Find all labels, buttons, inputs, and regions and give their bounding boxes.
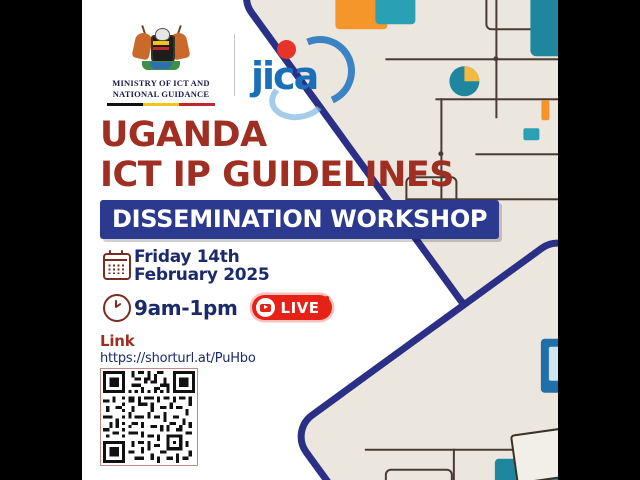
ministry-logo-text: MINISTRY OF ICT AND NATIONAL GUIDANCE	[112, 78, 209, 100]
date-row: Friday 14th February 2025	[100, 248, 430, 285]
jica-logo-icon: jica	[247, 32, 355, 98]
ministry-logo-line1: MINISTRY OF ICT AND	[112, 78, 209, 89]
link-label: Link	[100, 332, 256, 350]
page-title: UGANDA ICT IP GUIDELINES DISSEMINATION W…	[100, 118, 500, 239]
youtube-play-icon	[256, 298, 275, 317]
jica-wordmark: jica	[251, 54, 317, 98]
event-details: Friday 14th February 2025 9am-1pm LIVE	[100, 248, 430, 322]
subtitle-banner-label: DISSEMINATION WORKSHOP	[112, 205, 487, 233]
event-date-line2: February 2025	[134, 266, 269, 284]
ministry-logo-line2: NATIONAL GUIDANCE	[112, 89, 209, 100]
clock-icon	[100, 294, 134, 322]
time-row: 9am-1pm LIVE	[100, 294, 430, 322]
illustration-canvas	[345, 329, 558, 480]
ministry-logo: MINISTRY OF ICT AND NATIONAL GUIDANCE	[100, 25, 222, 106]
headline-line-2: ICT IP GUIDELINES	[100, 158, 500, 194]
link-block: Link https://shorturl.at/PuHbo	[100, 332, 256, 366]
event-date-line1: Friday 14th	[134, 248, 269, 266]
screenshot-letterbox: MINISTRY OF ICT AND NATIONAL GUIDANCE ji…	[0, 0, 640, 480]
subtitle-banner: DISSEMINATION WORKSHOP	[100, 200, 499, 239]
live-badge-spark	[325, 296, 329, 300]
uganda-coat-of-arms-icon	[124, 25, 198, 75]
qr-code-icon[interactable]	[100, 368, 198, 466]
event-date: Friday 14th February 2025	[134, 248, 269, 285]
event-time: 9am-1pm	[134, 296, 238, 320]
ministry-logo-rule	[107, 103, 215, 106]
logo-row: MINISTRY OF ICT AND NATIONAL GUIDANCE ji…	[100, 22, 360, 108]
calendar-icon	[100, 253, 134, 280]
poster: MINISTRY OF ICT AND NATIONAL GUIDANCE ji…	[82, 0, 558, 480]
live-badge[interactable]: LIVE	[252, 295, 332, 320]
logo-divider	[234, 34, 235, 96]
headline-line-1: UGANDA	[100, 118, 500, 154]
link-url[interactable]: https://shorturl.at/PuHbo	[100, 351, 256, 366]
live-badge-label: LIVE	[281, 299, 320, 317]
